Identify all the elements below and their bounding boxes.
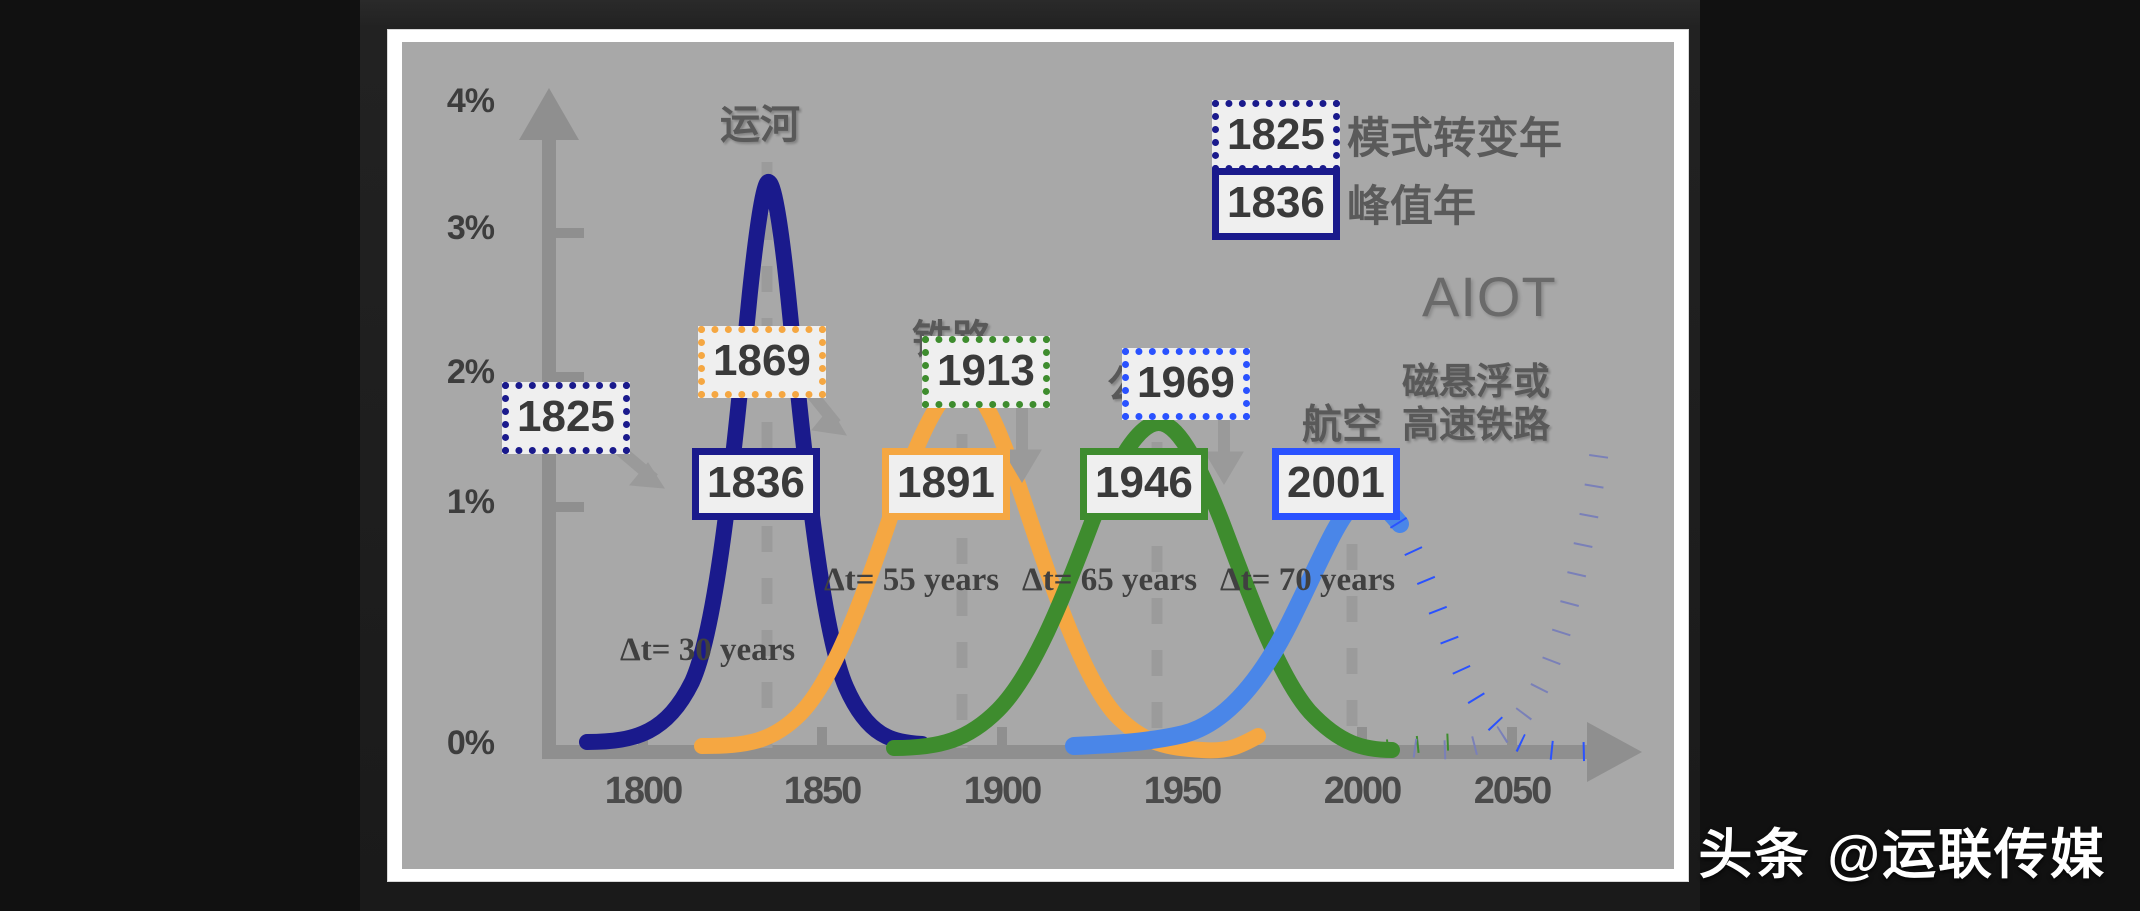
chart-slide: 4% 3% 2% 1% 0% 1800 1850 1900 1950 2000 …	[402, 42, 1674, 869]
x-tick-1850: 1850	[752, 770, 892, 813]
y-tick-2: 2%	[414, 353, 494, 392]
x-tick-1900: 1900	[932, 770, 1072, 813]
legend-chip-peak: 1836	[1212, 168, 1340, 240]
curve-future	[1414, 446, 1600, 750]
plot-area: 4% 3% 2% 1% 0% 1800 1850 1900 1950 2000 …	[402, 42, 1674, 869]
y-tick-3: 3%	[414, 209, 494, 248]
chip-peak-1836[interactable]: 1836	[692, 448, 820, 520]
delta-t-70: Δt= 70 years	[1220, 562, 1395, 599]
screen: 4% 3% 2% 1% 0% 1800 1850 1900 1950 2000 …	[0, 0, 2140, 911]
chip-shift-1869[interactable]: 1869	[698, 326, 826, 398]
x-tick-2000: 2000	[1292, 770, 1432, 813]
legend-text-peak: 峰值年	[1347, 172, 1476, 234]
y-tick-1: 1%	[414, 483, 494, 522]
curve-air-dotted	[1398, 522, 1610, 752]
y-tick-0: 0%	[414, 724, 494, 763]
curve-label-future-line1: 磁悬浮或	[1402, 362, 1550, 401]
x-tick-1800: 1800	[573, 770, 713, 813]
chip-peak-2001[interactable]: 2001	[1272, 448, 1400, 520]
chip-shift-1825[interactable]: 1825	[502, 382, 630, 454]
chip-peak-1946[interactable]: 1946	[1080, 448, 1208, 520]
curve-label-future-line2: 高速铁路	[1402, 405, 1550, 444]
legend-chip-shift: 1825	[1212, 100, 1340, 172]
chart-canvas	[402, 42, 1674, 869]
y-tick-4: 4%	[414, 82, 494, 121]
delta-t-30: Δt= 30 years	[620, 632, 795, 669]
chip-shift-1969[interactable]: 1969	[1122, 348, 1250, 420]
x-tick-2050: 2050	[1442, 770, 1582, 813]
curve-label-air: 航空	[1302, 392, 1382, 450]
x-tick-1950: 1950	[1112, 770, 1252, 813]
chip-shift-1913[interactable]: 1913	[922, 336, 1050, 408]
curve-label-canal: 运河	[720, 92, 800, 150]
aiot-label: AIOT	[1422, 264, 1557, 329]
watermark: 头条 @运联传媒	[1698, 810, 2106, 889]
delta-t-55: Δt= 55 years	[824, 562, 999, 599]
delta-t-65: Δt= 65 years	[1022, 562, 1197, 599]
legend-text-shift: 模式转变年	[1347, 104, 1562, 166]
chip-peak-1891[interactable]: 1891	[882, 448, 1010, 520]
